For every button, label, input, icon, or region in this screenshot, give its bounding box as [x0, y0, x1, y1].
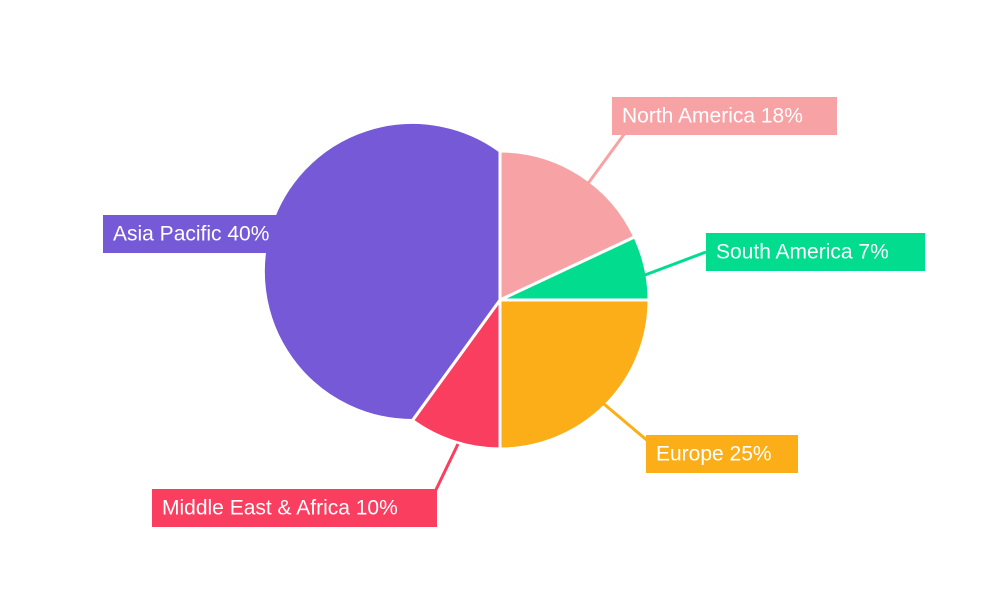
- pie-slices: [263, 122, 649, 449]
- label-text-asia-pacific: Asia Pacific 40%: [113, 223, 269, 246]
- label-text-south-america: South America 7%: [716, 241, 889, 264]
- slice-label-europe[interactable]: Europe 25%: [646, 435, 798, 473]
- pie-chart-figure: North America 18% South America 7% Europ…: [0, 0, 1000, 600]
- chart-canvas: North America 18% South America 7% Europ…: [0, 0, 1000, 600]
- pie-slice-europe[interactable]: [500, 300, 649, 449]
- slice-label-asia-pacific[interactable]: Asia Pacific 40%: [103, 215, 300, 253]
- label-text-middle-east-africa: Middle East & Africa 10%: [162, 497, 398, 520]
- slice-label-north-america[interactable]: North America 18%: [612, 97, 837, 135]
- label-text-north-america: North America 18%: [622, 105, 803, 128]
- label-text-europe: Europe 25%: [656, 443, 772, 466]
- slice-label-middle-east-africa[interactable]: Middle East & Africa 10%: [152, 489, 437, 527]
- slice-label-south-america[interactable]: South America 7%: [706, 233, 925, 271]
- leader-line-south-america: [645, 252, 706, 275]
